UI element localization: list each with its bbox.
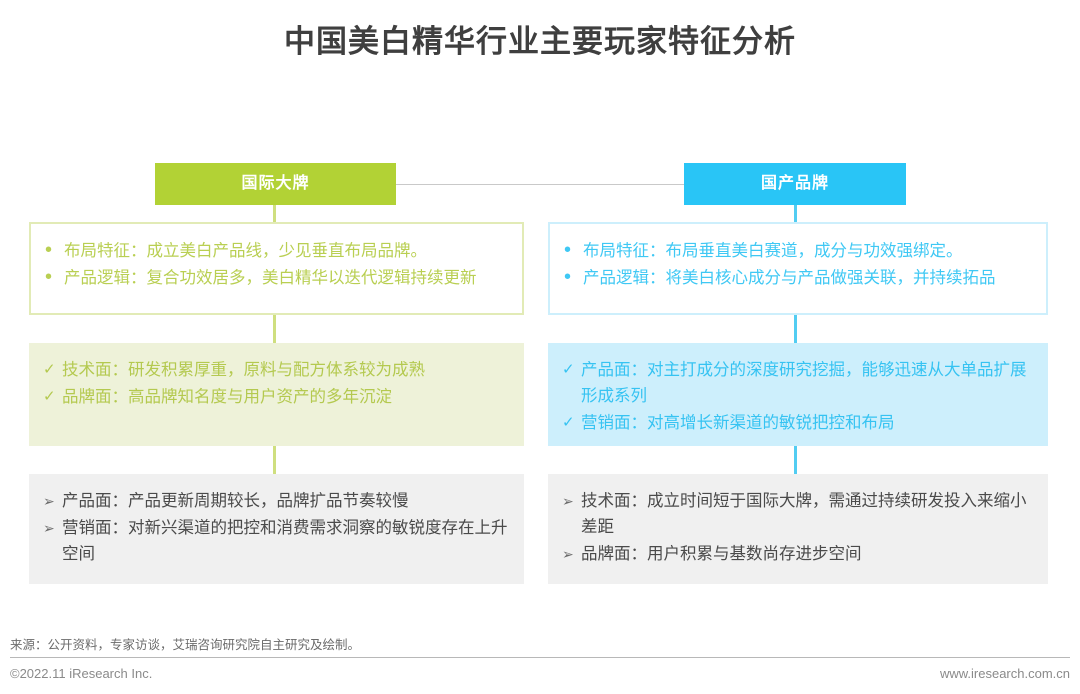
connector-left-box2-to-box3 bbox=[273, 446, 276, 474]
list-item: ➢ 品牌面：用户积累与基数尚存进步空间 bbox=[562, 541, 1032, 567]
website-url: www.iresearch.com.cn bbox=[940, 666, 1070, 681]
list-item-text: 布局特征：成立美白产品线，少见垂直布局品牌。 bbox=[64, 238, 506, 264]
list-item-text: 品牌面：用户积累与基数尚存进步空间 bbox=[581, 541, 1032, 567]
right-box-strengths: ✓ 产品面：对主打成分的深度研究挖掘，能够迅速从大单品扩展形成系列 ✓ 营销面：… bbox=[548, 343, 1048, 446]
check-bullet-icon: ✓ bbox=[562, 410, 581, 436]
arrow-bullet-icon: ➢ bbox=[43, 515, 62, 541]
footer-divider bbox=[10, 657, 1070, 658]
list-item-text: 产品逻辑：将美白核心成分与产品做强关联，并持续拓品 bbox=[583, 265, 1030, 291]
arrow-bullet-icon: ➢ bbox=[562, 541, 581, 567]
arrow-bullet-icon: ➢ bbox=[562, 488, 581, 514]
right-box1-list: • 布局特征：布局垂直美白赛道，成分与功效强绑定。 • 产品逻辑：将美白核心成分… bbox=[564, 238, 1030, 291]
left-box-weaknesses: ➢ 产品面：产品更新周期较长，品牌扩品节奏较慢 ➢ 营销面：对新兴渠道的把控和消… bbox=[29, 474, 524, 584]
check-bullet-icon: ✓ bbox=[43, 357, 62, 383]
right-box-weaknesses: ➢ 技术面：成立时间短于国际大牌，需通过持续研发投入来缩小差距 ➢ 品牌面：用户… bbox=[548, 474, 1048, 584]
copyright-text: ©2022.11 iResearch Inc. bbox=[10, 666, 152, 681]
header-connector-line bbox=[396, 184, 684, 185]
right-box3-list: ➢ 技术面：成立时间短于国际大牌，需通过持续研发投入来缩小差距 ➢ 品牌面：用户… bbox=[562, 488, 1032, 567]
right-box2-list: ✓ 产品面：对主打成分的深度研究挖掘，能够迅速从大单品扩展形成系列 ✓ 营销面：… bbox=[562, 357, 1032, 436]
dot-bullet-icon: • bbox=[564, 238, 583, 262]
connector-left-header-to-box1 bbox=[273, 205, 276, 222]
left-box-strengths: ✓ 技术面：研发积累厚重，原料与配方体系较为成熟 ✓ 品牌面：高品牌知名度与用户… bbox=[29, 343, 524, 446]
right-box-layout-features: • 布局特征：布局垂直美白赛道，成分与功效强绑定。 • 产品逻辑：将美白核心成分… bbox=[548, 222, 1048, 315]
list-item: • 产品逻辑：复合功效居多，美白精华以迭代逻辑持续更新 bbox=[45, 265, 506, 291]
dot-bullet-icon: • bbox=[45, 238, 64, 262]
list-item: • 布局特征：成立美白产品线，少见垂直布局品牌。 bbox=[45, 238, 506, 264]
list-item-text: 营销面：对高增长新渠道的敏锐把控和布局 bbox=[581, 410, 1032, 436]
connector-right-header-to-box1 bbox=[794, 205, 797, 222]
list-item: ✓ 技术面：研发积累厚重，原料与配方体系较为成熟 bbox=[43, 357, 508, 383]
list-item: • 布局特征：布局垂直美白赛道，成分与功效强绑定。 bbox=[564, 238, 1030, 264]
list-item-text: 产品面：对主打成分的深度研究挖掘，能够迅速从大单品扩展形成系列 bbox=[581, 357, 1032, 409]
dot-bullet-icon: • bbox=[45, 265, 64, 289]
list-item-text: 技术面：成立时间短于国际大牌，需通过持续研发投入来缩小差距 bbox=[581, 488, 1032, 540]
list-item-text: 品牌面：高品牌知名度与用户资产的多年沉淀 bbox=[62, 384, 508, 410]
list-item: ➢ 产品面：产品更新周期较长，品牌扩品节奏较慢 bbox=[43, 488, 508, 514]
left-box-layout-features: • 布局特征：成立美白产品线，少见垂直布局品牌。 • 产品逻辑：复合功效居多，美… bbox=[29, 222, 524, 315]
list-item: ✓ 营销面：对高增长新渠道的敏锐把控和布局 bbox=[562, 410, 1032, 436]
list-item-text: 营销面：对新兴渠道的把控和消费需求洞察的敏锐度存在上升空间 bbox=[62, 515, 508, 567]
dot-bullet-icon: • bbox=[564, 265, 583, 289]
comparison-diagram: 国际大牌 • 布局特征：成立美白产品线，少见垂直布局品牌。 • 产品逻辑：复合功… bbox=[0, 0, 1080, 694]
check-bullet-icon: ✓ bbox=[562, 357, 581, 383]
arrow-bullet-icon: ➢ bbox=[43, 488, 62, 514]
list-item: ✓ 产品面：对主打成分的深度研究挖掘，能够迅速从大单品扩展形成系列 bbox=[562, 357, 1032, 409]
left-box3-list: ➢ 产品面：产品更新周期较长，品牌扩品节奏较慢 ➢ 营销面：对新兴渠道的把控和消… bbox=[43, 488, 508, 567]
column-header-left: 国际大牌 bbox=[155, 163, 396, 205]
list-item-text: 技术面：研发积累厚重，原料与配方体系较为成熟 bbox=[62, 357, 508, 383]
list-item-text: 布局特征：布局垂直美白赛道，成分与功效强绑定。 bbox=[583, 238, 1030, 264]
connector-right-box1-to-box2 bbox=[794, 315, 797, 343]
list-item: ✓ 品牌面：高品牌知名度与用户资产的多年沉淀 bbox=[43, 384, 508, 410]
left-box1-list: • 布局特征：成立美白产品线，少见垂直布局品牌。 • 产品逻辑：复合功效居多，美… bbox=[45, 238, 506, 291]
left-box2-list: ✓ 技术面：研发积累厚重，原料与配方体系较为成熟 ✓ 品牌面：高品牌知名度与用户… bbox=[43, 357, 508, 410]
list-item: ➢ 营销面：对新兴渠道的把控和消费需求洞察的敏锐度存在上升空间 bbox=[43, 515, 508, 567]
connector-left-box1-to-box2 bbox=[273, 315, 276, 343]
source-note: 来源：公开资料，专家访谈，艾瑞咨询研究院自主研究及绘制。 bbox=[10, 634, 360, 653]
list-item-text: 产品逻辑：复合功效居多，美白精华以迭代逻辑持续更新 bbox=[64, 265, 506, 291]
check-bullet-icon: ✓ bbox=[43, 384, 62, 410]
connector-right-box2-to-box3 bbox=[794, 446, 797, 474]
list-item: ➢ 技术面：成立时间短于国际大牌，需通过持续研发投入来缩小差距 bbox=[562, 488, 1032, 540]
list-item: • 产品逻辑：将美白核心成分与产品做强关联，并持续拓品 bbox=[564, 265, 1030, 291]
list-item-text: 产品面：产品更新周期较长，品牌扩品节奏较慢 bbox=[62, 488, 508, 514]
column-header-right: 国产品牌 bbox=[684, 163, 906, 205]
